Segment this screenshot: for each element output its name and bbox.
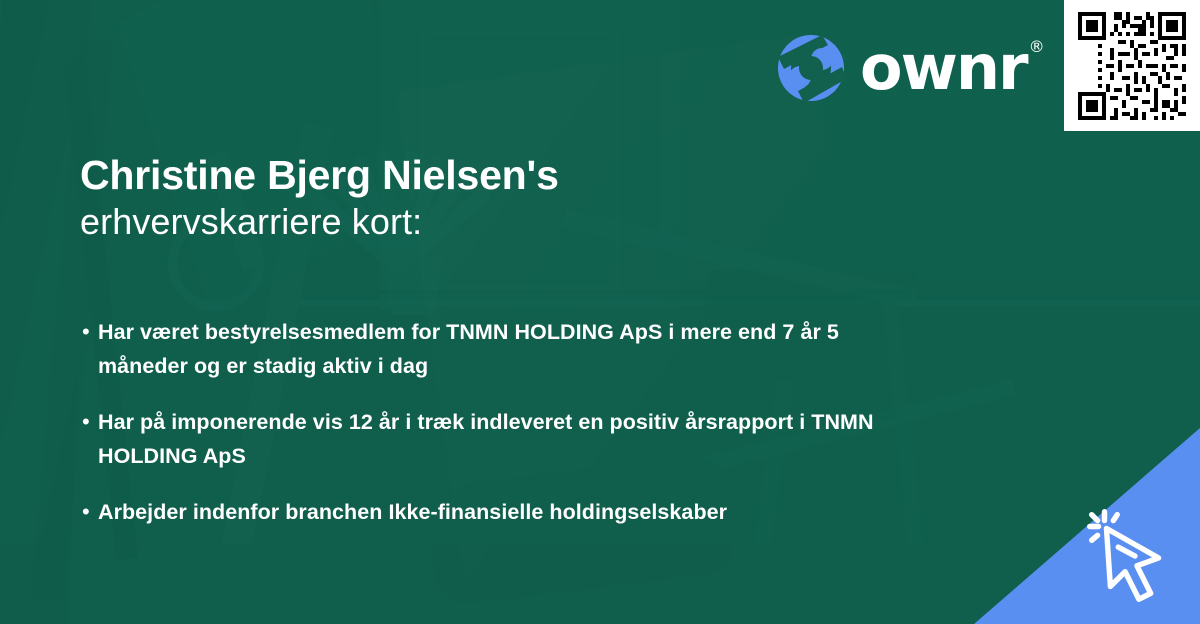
career-highlights-list: • Har været bestyrelsesmedlem for TNMN H… [82, 315, 912, 551]
ownr-logo[interactable]: ownr ® [776, 33, 1027, 103]
list-item: • Arbejder indenfor branchen Ikke-finans… [82, 495, 912, 529]
ownr-circle-swirl-icon [776, 33, 846, 103]
bullet-marker-icon: • [82, 495, 98, 529]
ownr-wordmark-text: ownr [860, 31, 1027, 104]
page-title-line1: Christine Bjerg Nielsen's [80, 152, 559, 199]
ownr-wordmark: ownr ® [860, 37, 1027, 99]
click-cursor-icon [1074, 496, 1192, 614]
page-title-line2: erhvervskarriere kort: [80, 199, 559, 246]
registered-trademark-symbol: ® [1029, 39, 1045, 55]
qr-code-image [1074, 8, 1190, 124]
list-item-label: Har været bestyrelsesmedlem for TNMN HOL… [98, 315, 912, 383]
career-card: ownr ® Christine Bjerg Nielsen's erhverv… [0, 0, 1200, 624]
page-title: Christine Bjerg Nielsen's erhvervskarrie… [80, 152, 559, 246]
list-item: • Har på imponerende vis 12 år i træk in… [82, 405, 912, 473]
list-item: • Har været bestyrelsesmedlem for TNMN H… [82, 315, 912, 383]
bullet-marker-icon: • [82, 405, 98, 439]
list-item-label: Har på imponerende vis 12 år i træk indl… [98, 405, 912, 473]
list-item-label: Arbejder indenfor branchen Ikke-finansie… [98, 495, 727, 529]
qr-code[interactable] [1064, 0, 1200, 131]
bullet-marker-icon: • [82, 315, 98, 349]
